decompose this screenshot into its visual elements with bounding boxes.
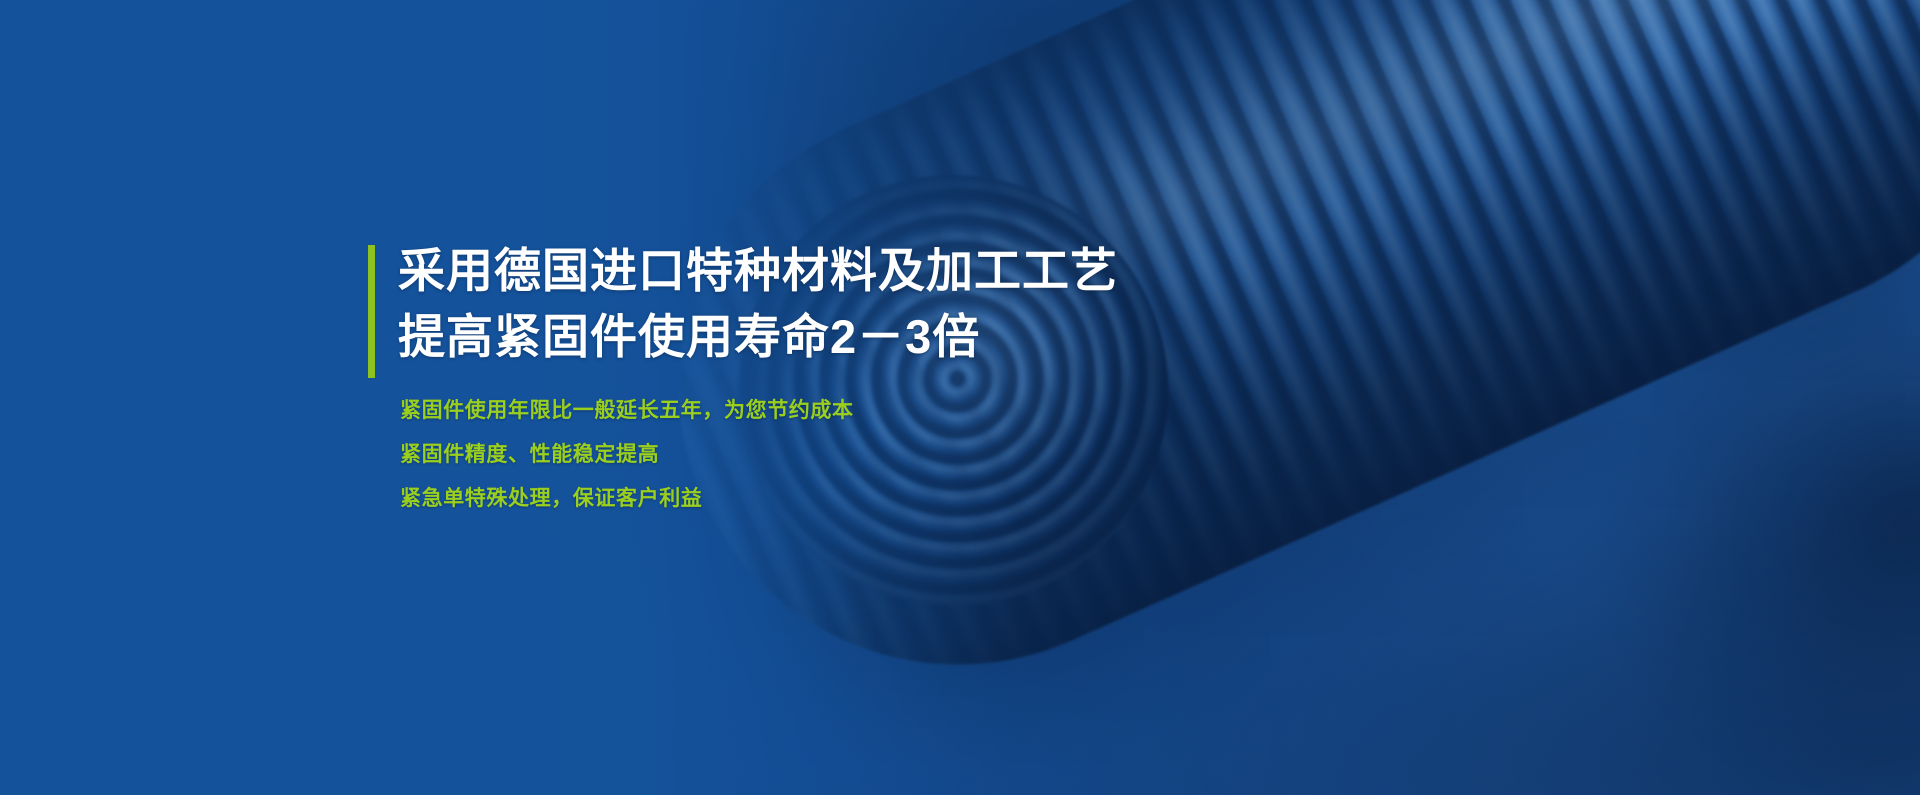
subcopy-list: 紧固件使用年限比一般延长五年，为您节约成本 紧固件精度、性能稳定提高 紧急单特殊… [400,396,1128,514]
green-accent-bar [368,245,375,378]
headline-line-2: 提高紧固件使用寿命2－3倍 [398,304,1128,370]
headline-line-1: 采用德国进口特种材料及加工工艺 [398,238,1128,304]
hero-banner: 采用德国进口特种材料及加工工艺 提高紧固件使用寿命2－3倍 紧固件使用年限比一般… [0,0,1920,795]
subcopy-line-1: 紧固件使用年限比一般延长五年，为您节约成本 [400,396,1128,426]
subcopy-line-3: 紧急单特殊处理，保证客户利益 [400,484,1128,514]
banner-copy-block: 采用德国进口特种材料及加工工艺 提高紧固件使用寿命2－3倍 紧固件使用年限比一般… [368,238,1128,514]
headline-group: 采用德国进口特种材料及加工工艺 提高紧固件使用寿命2－3倍 [368,238,1128,370]
subcopy-line-2: 紧固件精度、性能稳定提高 [400,440,1128,470]
